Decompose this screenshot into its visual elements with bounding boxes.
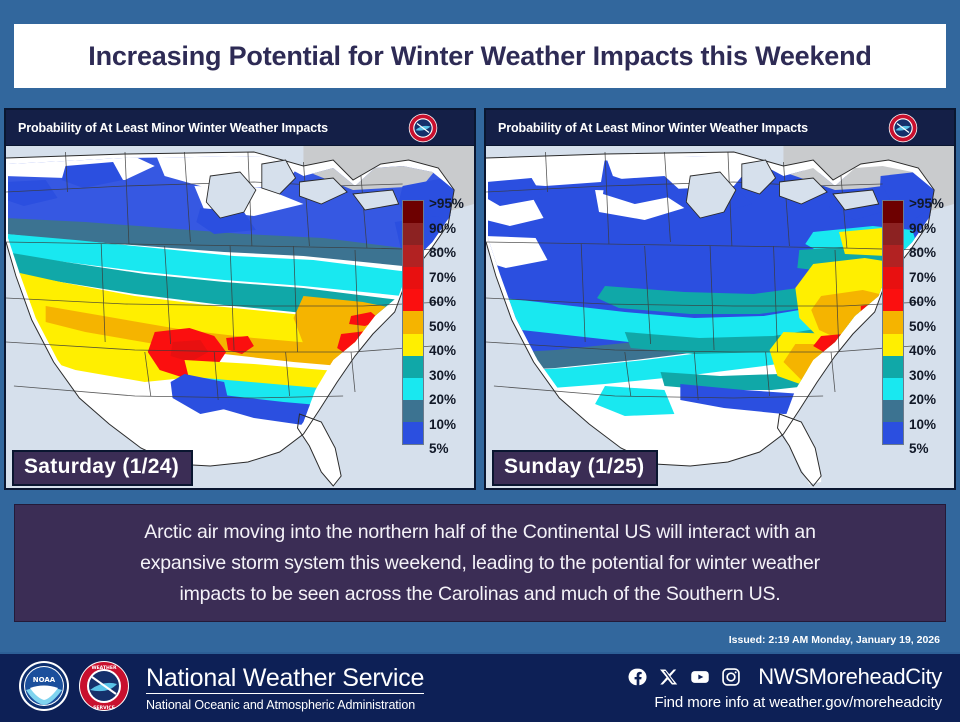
legend-sunday: >95%90%80%70%60%50%40%30%20%10%5% <box>878 192 950 460</box>
footer: NOAA WEATHER SERVICE National Weather Se… <box>0 652 960 722</box>
noaa-logo-icon: NOAA <box>18 660 70 717</box>
summary-line: expansive storm system this weekend, lea… <box>140 548 820 579</box>
legend-swatch-90 <box>403 223 423 245</box>
map-body-sunday: >95%90%80%70%60%50%40%30%20%10%5% Sunday… <box>486 146 954 490</box>
legend-swatch-60 <box>403 289 423 311</box>
day-tag-sunday: Sunday (1/25) <box>492 450 658 486</box>
agency-name: National Weather Service <box>146 664 424 694</box>
legend-label: 20% <box>429 388 464 413</box>
map-header-sunday: Probability of At Least Minor Winter Wea… <box>486 110 954 146</box>
legend-swatch-50 <box>883 311 903 333</box>
legend-swatch-10 <box>883 400 903 422</box>
legend-label: 80% <box>909 241 944 266</box>
legend-labels: >95%90%80%70%60%50%40%30%20%10%5% <box>909 192 944 453</box>
footer-social: NWSMoreheadCity Find more info at weathe… <box>628 664 942 711</box>
legend-swatch-30 <box>403 356 423 378</box>
day-tag-saturday: Saturday (1/24) <box>12 450 193 486</box>
weather-graphic: Increasing Potential for Winter Weather … <box>0 0 960 720</box>
legend-swatch-90 <box>883 223 903 245</box>
legend-label: 60% <box>909 290 944 315</box>
issued-timestamp: Issued: 2:19 AM Monday, January 19, 2026 <box>729 634 940 646</box>
nws-seal-icon: WEATHER SERVICE <box>78 660 130 717</box>
map-panel-saturday[interactable]: Probability of At Least Minor Winter Wea… <box>4 108 476 490</box>
title-banner: Increasing Potential for Winter Weather … <box>14 24 946 88</box>
legend-label: 70% <box>909 266 944 291</box>
footer-brand-text: National Weather Service National Oceani… <box>146 664 424 714</box>
page-title: Increasing Potential for Winter Weather … <box>88 41 871 72</box>
legend-swatch-gt95 <box>403 201 423 223</box>
legend-label: >95% <box>429 192 464 217</box>
legend-label: 80% <box>429 241 464 266</box>
legend-label: 40% <box>429 339 464 364</box>
legend-saturday: >95%90%80%70%60%50%40%30%20%10%5% <box>398 192 470 460</box>
social-row: NWSMoreheadCity <box>628 664 942 690</box>
legend-swatch-10 <box>403 400 423 422</box>
legend-label: 10% <box>429 413 464 438</box>
map-header-title: Probability of At Least Minor Winter Wea… <box>498 121 808 135</box>
legend-label: 50% <box>429 315 464 340</box>
legend-label: 10% <box>909 413 944 438</box>
svg-text:NOAA: NOAA <box>33 676 56 684</box>
svg-text:SERVICE: SERVICE <box>93 705 115 711</box>
legend-label: >95% <box>909 192 944 217</box>
nws-seal-icon <box>408 113 438 143</box>
legend-swatch-40 <box>883 334 903 356</box>
summary-panel: Arctic air moving into the northern half… <box>14 504 946 622</box>
legend-swatch-80 <box>403 245 423 267</box>
legend-label: 30% <box>909 364 944 389</box>
map-body-saturday: >95%90%80%70%60%50%40%30%20%10%5% Saturd… <box>6 146 474 490</box>
legend-label: 20% <box>909 388 944 413</box>
legend-swatch-60 <box>883 289 903 311</box>
legend-label: 50% <box>909 315 944 340</box>
social-handle[interactable]: NWSMoreheadCity <box>758 664 942 690</box>
nws-seal-icon <box>888 113 918 143</box>
legend-label: 90% <box>909 217 944 242</box>
legend-color-bar <box>402 200 424 445</box>
legend-swatch-5 <box>883 422 903 444</box>
legend-label: 60% <box>429 290 464 315</box>
maps-row: Probability of At Least Minor Winter Wea… <box>4 108 956 490</box>
legend-label: 30% <box>429 364 464 389</box>
map-header-saturday: Probability of At Least Minor Winter Wea… <box>6 110 474 146</box>
footer-branding: NOAA WEATHER SERVICE National Weather Se… <box>18 660 424 717</box>
agency-subtitle: National Oceanic and Atmospheric Adminis… <box>146 696 424 714</box>
legend-swatch-5 <box>403 422 423 444</box>
legend-label: 70% <box>429 266 464 291</box>
legend-swatch-gt95 <box>883 201 903 223</box>
facebook-icon[interactable] <box>628 667 648 687</box>
legend-label: 5% <box>429 437 464 462</box>
summary-line: Arctic air moving into the northern half… <box>144 517 815 548</box>
instagram-icon[interactable] <box>721 667 741 687</box>
legend-swatch-70 <box>883 267 903 289</box>
legend-swatch-20 <box>403 378 423 400</box>
legend-swatch-30 <box>883 356 903 378</box>
legend-labels: >95%90%80%70%60%50%40%30%20%10%5% <box>429 192 464 453</box>
legend-swatch-40 <box>403 334 423 356</box>
legend-swatch-70 <box>403 267 423 289</box>
legend-swatch-50 <box>403 311 423 333</box>
legend-swatch-80 <box>883 245 903 267</box>
legend-label: 5% <box>909 437 944 462</box>
youtube-icon[interactable] <box>690 667 710 687</box>
legend-color-bar <box>882 200 904 445</box>
svg-text:WEATHER: WEATHER <box>91 665 117 671</box>
legend-label: 40% <box>909 339 944 364</box>
x-twitter-icon[interactable] <box>659 667 679 687</box>
summary-line: impacts to be seen across the Carolinas … <box>180 579 781 610</box>
map-header-title: Probability of At Least Minor Winter Wea… <box>18 121 328 135</box>
legend-label: 90% <box>429 217 464 242</box>
more-info-url[interactable]: Find more info at weather.gov/moreheadci… <box>628 694 942 711</box>
legend-swatch-20 <box>883 378 903 400</box>
map-panel-sunday[interactable]: Probability of At Least Minor Winter Wea… <box>484 108 956 490</box>
